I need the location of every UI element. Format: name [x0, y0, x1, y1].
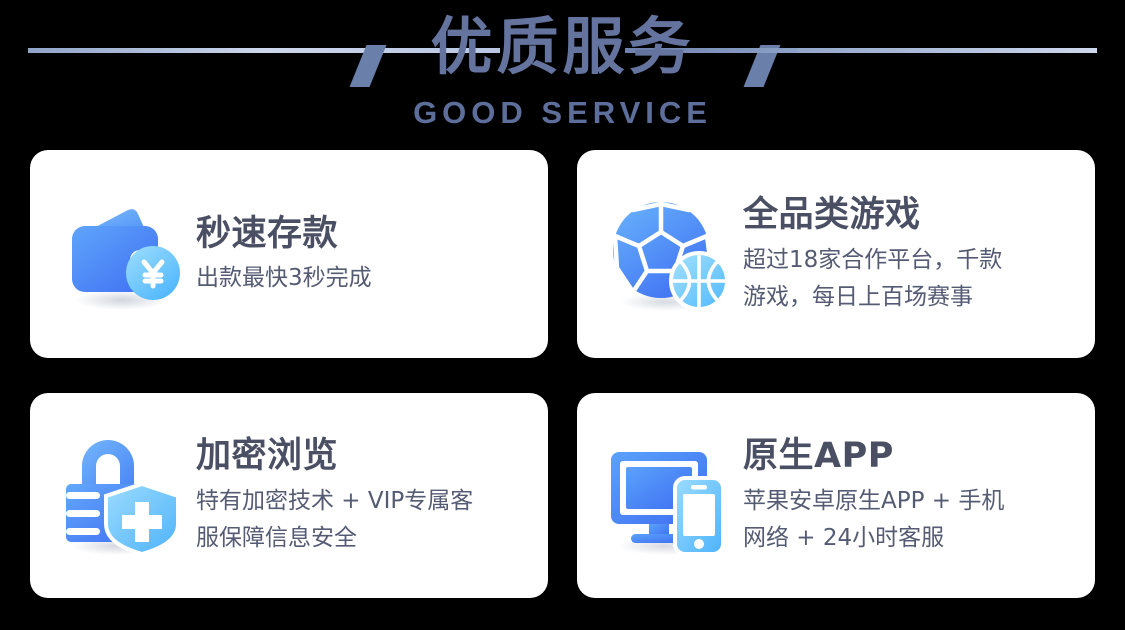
feature-card[interactable]: 加密浏览 特有加密技术 + VIP专属客 服保障信息安全: [30, 393, 548, 598]
feature-card-text: 加密浏览 特有加密技术 + VIP专属客 服保障信息安全: [188, 434, 530, 557]
feature-card-title: 秒速存款: [196, 212, 530, 257]
lock-shield-icon: [56, 430, 188, 562]
football-basketball-icon: [603, 188, 735, 320]
page-title: 优质服务: [0, 6, 1125, 88]
feature-card-desc-line: 游戏，每日上百场赛事: [743, 279, 1077, 316]
wallet-yen-icon: [56, 188, 188, 320]
feature-card-desc-line: 苹果安卓原生APP + 手机: [743, 483, 1077, 520]
feature-card[interactable]: 原生APP 苹果安卓原生APP + 手机 网络 + 24小时客服: [577, 393, 1095, 598]
feature-card-desc: 苹果安卓原生APP + 手机 网络 + 24小时客服: [743, 483, 1077, 557]
feature-card-title: 全品类游戏: [743, 193, 1077, 238]
feature-card-desc: 超过18家合作平台，千款 游戏，每日上百场赛事: [743, 242, 1077, 316]
feature-card-title: 加密浏览: [196, 434, 530, 479]
feature-card-desc: 出款最快3秒完成: [196, 261, 530, 296]
feature-card-desc: 特有加密技术 + VIP专属客 服保障信息安全: [196, 483, 530, 557]
feature-card-grid: 秒速存款 出款最快3秒完成: [30, 150, 1095, 600]
feature-card-desc-line: 超过18家合作平台，千款: [743, 242, 1077, 279]
feature-card-text: 秒速存款 出款最快3秒完成: [188, 212, 530, 296]
feature-card-title: 原生APP: [743, 434, 1077, 479]
feature-card-text: 全品类游戏 超过18家合作平台，千款 游戏，每日上百场赛事: [735, 193, 1077, 316]
feature-card[interactable]: 秒速存款 出款最快3秒完成: [30, 150, 548, 358]
feature-card-text: 原生APP 苹果安卓原生APP + 手机 网络 + 24小时客服: [735, 434, 1077, 557]
feature-card-desc-line: 出款最快3秒完成: [196, 261, 530, 296]
page-header: 优质服务 GOOD SERVICE: [0, 0, 1125, 145]
feature-card[interactable]: 全品类游戏 超过18家合作平台，千款 游戏，每日上百场赛事: [577, 150, 1095, 358]
feature-card-desc-line: 特有加密技术 + VIP专属客: [196, 483, 530, 520]
feature-card-desc-line: 服保障信息安全: [196, 520, 530, 557]
page-subtitle: GOOD SERVICE: [0, 94, 1125, 132]
feature-card-desc-line: 网络 + 24小时客服: [743, 520, 1077, 557]
monitor-phone-icon: [603, 430, 735, 562]
